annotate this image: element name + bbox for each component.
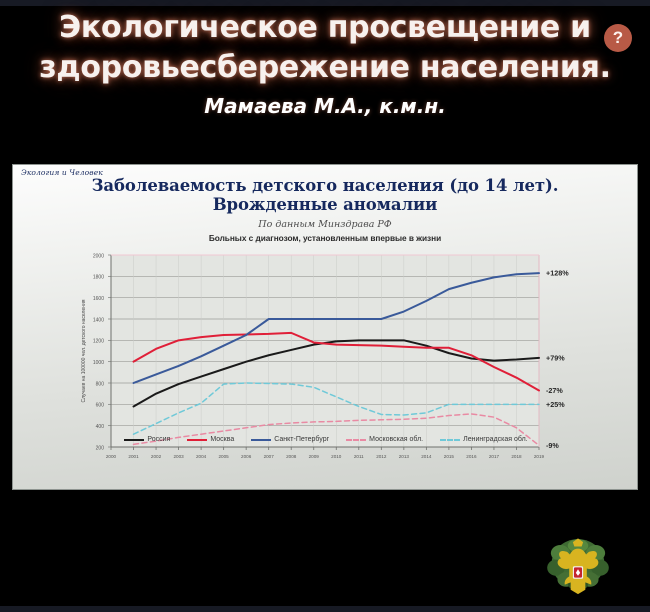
x-axis-tick-label: 2015 — [444, 454, 455, 459]
x-axis-tick-label: 2007 — [264, 454, 275, 459]
x-axis-tick-label: 2005 — [219, 454, 230, 459]
y-axis-tick-label: 800 — [96, 382, 105, 388]
series-annotation-0: +79% — [546, 354, 565, 363]
chart-description-note: Больных с диагнозом, установленным вперв… — [13, 233, 637, 243]
x-axis-tick-label: 2000 — [106, 454, 117, 459]
legend-swatch-icon — [187, 439, 207, 441]
chart-slide: Экология и Человек Заболеваемость детско… — [12, 164, 638, 490]
legend-swatch-icon — [346, 439, 366, 441]
bottom-edge-strip — [0, 606, 650, 612]
legend-swatch-icon — [440, 439, 460, 441]
help-icon[interactable]: ? — [604, 24, 632, 52]
legend-label: Россия — [147, 436, 170, 443]
x-axis-tick-label: 2008 — [286, 454, 297, 459]
chart-source-note: По данным Минздрава РФ — [13, 219, 637, 230]
chart-title-line-2: Врожденные аномалии — [13, 195, 637, 214]
x-axis-tick-label: 2013 — [399, 454, 410, 459]
chart-legend: РоссияМоскваСанкт-ПетербургМосковская об… — [13, 436, 638, 443]
x-axis-tick-label: 2009 — [309, 454, 320, 459]
legend-item-4[interactable]: Ленинградская обл. — [440, 436, 528, 443]
y-axis-tick-label: 400 — [96, 424, 105, 430]
legend-label: Москва — [210, 436, 234, 443]
y-axis-tick-label: 1200 — [93, 339, 104, 345]
y-axis-tick-label: 2000 — [93, 254, 104, 260]
series-annotation-1: -27% — [546, 386, 563, 395]
x-axis-tick-label: 2004 — [196, 454, 207, 459]
y-axis-title: Случаев на 100000 чел. детского населени… — [81, 299, 87, 402]
y-axis-tick-label: 1000 — [93, 360, 104, 366]
y-axis-tick-label: 1800 — [93, 275, 104, 281]
legend-swatch-icon — [251, 439, 271, 441]
series-annotation-2: +128% — [546, 269, 569, 278]
top-edge-strip — [0, 0, 650, 6]
series-annotation-4: +25% — [546, 400, 565, 409]
x-axis-tick-label: 2006 — [241, 454, 252, 459]
y-axis-tick-label: 600 — [96, 403, 105, 409]
x-axis-tick-label: 2016 — [466, 454, 477, 459]
slide-tag-label: Экология и Человек — [21, 168, 103, 177]
slide-stage: Экологическое просвещение и здоровьесбер… — [0, 0, 650, 612]
x-axis-tick-label: 2012 — [376, 454, 387, 459]
y-axis-tick-label: 1600 — [93, 296, 104, 302]
legend-label: Ленинградская обл. — [463, 436, 528, 443]
author-name: Мамаева М.А., к.м.н. — [0, 94, 650, 118]
x-axis-tick-label: 2001 — [128, 454, 139, 459]
presentation-title-block: Экологическое просвещение и здоровьесбер… — [0, 8, 650, 118]
y-axis-tick-label: 200 — [96, 446, 105, 452]
legend-swatch-icon — [124, 439, 144, 441]
plot-background — [111, 255, 539, 447]
title-line-2: здоровьесбережение населения. — [0, 48, 650, 88]
chart-title-line-1: Заболеваемость детского населения (до 14… — [92, 176, 559, 195]
chart-title: Заболеваемость детского населения (до 14… — [13, 176, 637, 214]
legend-label: Санкт-Петербург — [274, 436, 329, 443]
x-axis-tick-label: 2010 — [331, 454, 342, 459]
legend-item-0[interactable]: Россия — [124, 436, 170, 443]
x-axis-tick-label: 2017 — [489, 454, 500, 459]
x-axis-tick-label: 2014 — [421, 454, 432, 459]
title-line-1: Экологическое просвещение и — [0, 8, 650, 48]
legend-item-1[interactable]: Москва — [187, 436, 234, 443]
x-axis-tick-label: 2018 — [511, 454, 522, 459]
russian-coat-of-arms-emblem — [540, 534, 616, 600]
legend-item-2[interactable]: Санкт-Петербург — [251, 436, 329, 443]
x-axis-tick-label: 2002 — [151, 454, 162, 459]
legend-label: Московская обл. — [369, 436, 423, 443]
x-axis-tick-label: 2011 — [354, 454, 364, 459]
legend-item-3[interactable]: Московская обл. — [346, 436, 423, 443]
y-axis-tick-label: 1400 — [93, 318, 104, 324]
x-axis-tick-label: 2019 — [534, 454, 545, 459]
x-axis-tick-label: 2003 — [173, 454, 184, 459]
